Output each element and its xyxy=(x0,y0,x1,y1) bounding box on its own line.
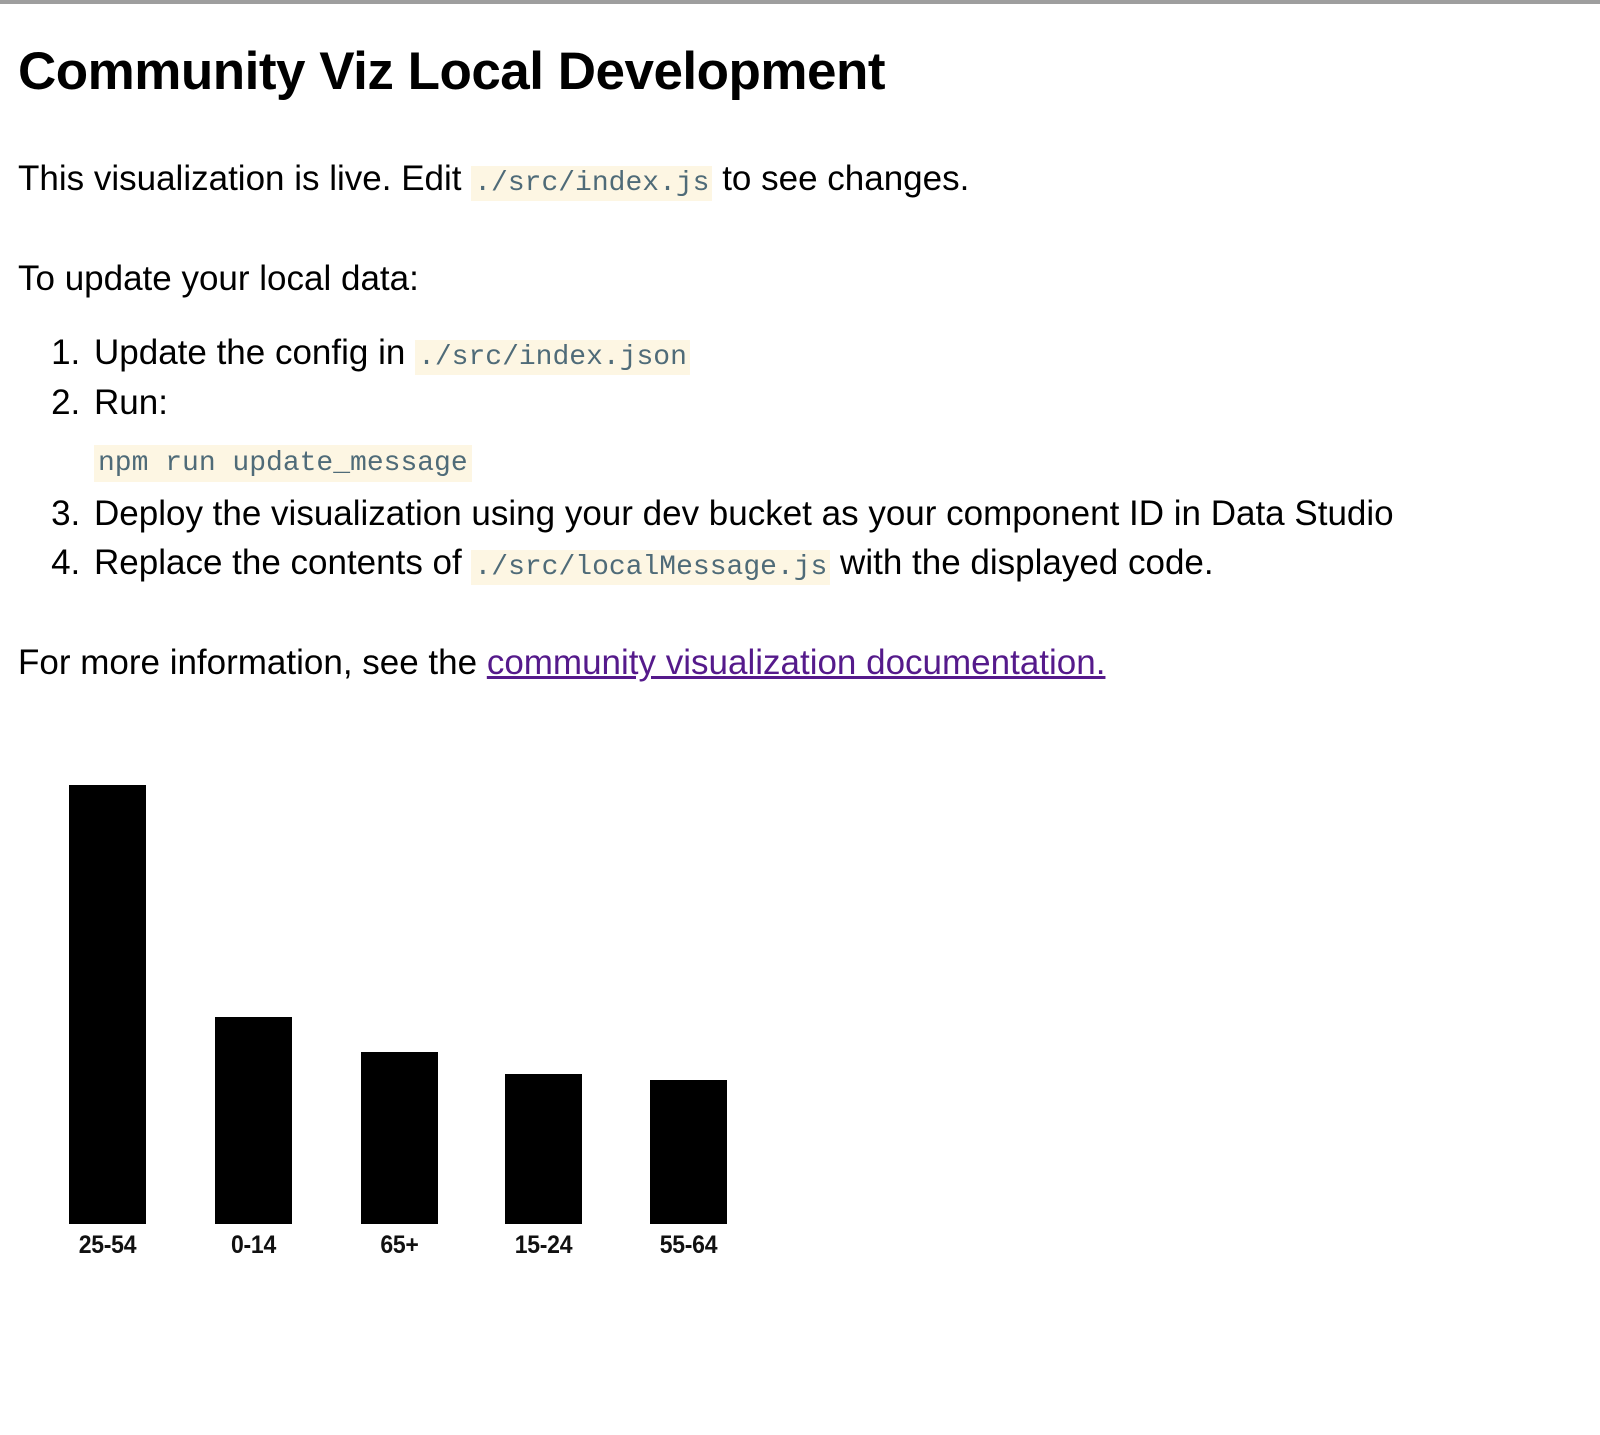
community-visualization-documentation-link[interactable]: community visualization documentation. xyxy=(487,643,1106,682)
footer-paragraph: For more information, see the community … xyxy=(18,640,1582,686)
bar-label-25-54: 25-54 xyxy=(72,1231,143,1260)
inline-code-index-js: ./src/index.js xyxy=(471,166,712,201)
step-3-text: Deploy the visualization using your dev … xyxy=(94,494,1394,533)
bar-chart-plot-area xyxy=(51,735,771,1224)
intro-text-after: to see changes. xyxy=(712,159,969,198)
bar-0-14 xyxy=(215,1017,292,1224)
bar-15-24 xyxy=(505,1074,582,1224)
bar-label-55-64: 55-64 xyxy=(653,1231,724,1260)
bar-65+ xyxy=(361,1052,438,1224)
bar-label-15-24: 15-24 xyxy=(508,1231,579,1260)
steps-list: Update the config in ./src/index.json Ru… xyxy=(18,330,1582,587)
step-2-text-before: Run: xyxy=(94,383,168,422)
code-block-text: npm run update_message xyxy=(94,445,472,482)
bar-label-0-14: 0-14 xyxy=(218,1231,289,1260)
inline-code-index-json: ./src/index.json xyxy=(415,340,690,375)
bar-25-54 xyxy=(69,785,146,1224)
page-title: Community Viz Local Development xyxy=(18,42,1582,103)
intro-paragraph: This visualization is live. Edit ./src/i… xyxy=(18,156,1582,203)
code-block-npm-command: npm run update_message xyxy=(94,436,1582,483)
bar-label-65+: 65+ xyxy=(364,1231,435,1260)
step-1-text-before: Update the config in xyxy=(94,333,415,372)
step-4-text-before: Replace the contents of xyxy=(94,543,471,582)
footer-text-before: For more information, see the xyxy=(18,643,487,682)
step-4-text-after: with the displayed code. xyxy=(830,543,1213,582)
bar-chart: 25-540-1465+15-2455-64 xyxy=(51,735,771,1295)
list-item: Run: npm run update_message xyxy=(90,380,1582,483)
list-item: Deploy the visualization using your dev … xyxy=(90,491,1582,537)
content-column: Community Viz Local Development This vis… xyxy=(0,42,1600,1295)
bar-55-64 xyxy=(650,1080,727,1224)
page-root: Community Viz Local Development This vis… xyxy=(0,4,1600,1295)
instructions-lead: To update your local data: xyxy=(18,256,1582,302)
list-item: Update the config in ./src/index.json xyxy=(90,330,1582,377)
list-item: Replace the contents of ./src/localMessa… xyxy=(90,540,1582,587)
bar-chart-container: 25-540-1465+15-2455-64 xyxy=(18,735,1582,1295)
bar-chart-category-axis: 25-540-1465+15-2455-64 xyxy=(51,1231,771,1277)
inline-code-local-message-js: ./src/localMessage.js xyxy=(471,550,830,585)
intro-text-before: This visualization is live. Edit xyxy=(18,159,471,198)
